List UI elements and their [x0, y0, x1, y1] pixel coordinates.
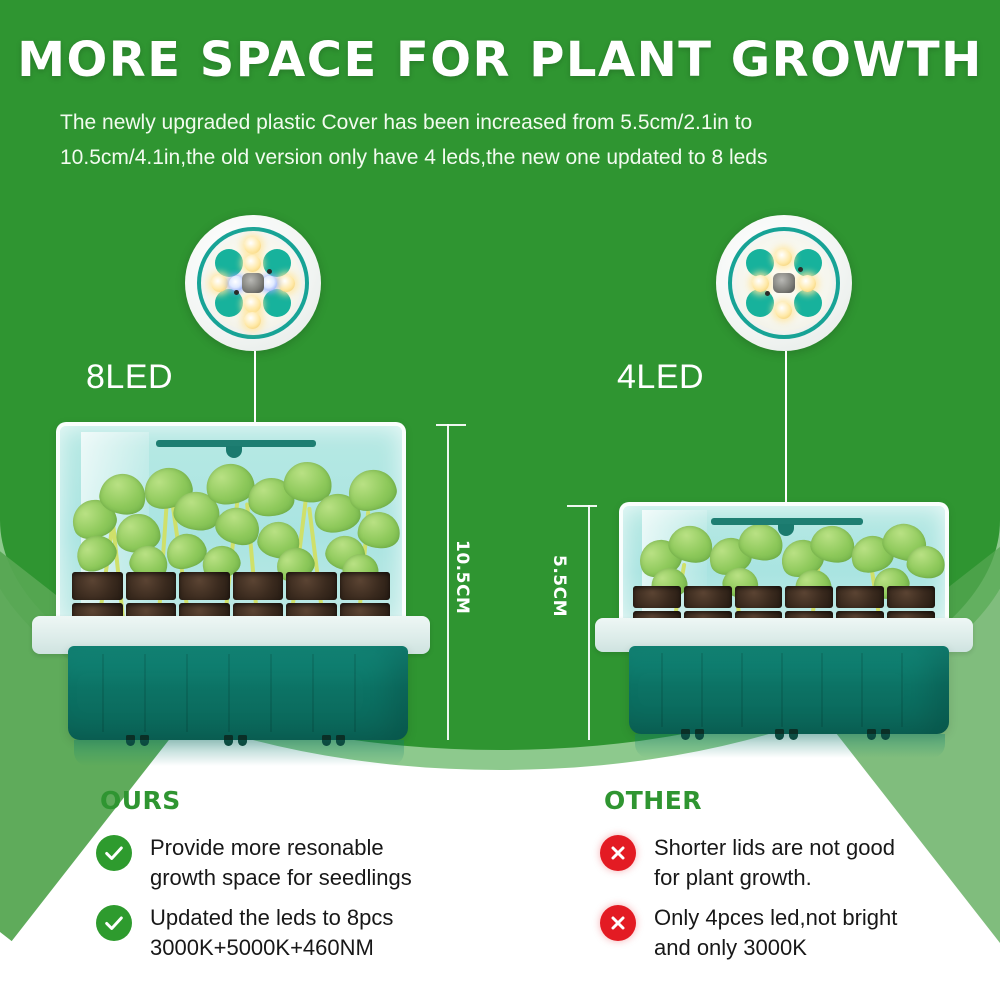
dim-line-ours	[447, 424, 449, 740]
soil-cell	[340, 572, 391, 600]
led-teal-dot-icon	[794, 249, 822, 277]
cross-icon	[600, 835, 636, 871]
soil-cell	[72, 572, 123, 600]
led-teal-dot-icon	[746, 249, 774, 277]
warm-led-icon	[244, 237, 261, 254]
base-rib	[901, 653, 903, 727]
base-rib	[270, 654, 272, 733]
base-rib	[312, 654, 314, 733]
subtitle-line-2: 10.5cm/4.1in,the old version only have 4…	[60, 140, 960, 175]
soil-cell	[233, 572, 284, 600]
led-module-4led	[716, 215, 852, 351]
led-solder-dot	[267, 269, 272, 274]
warm-led-icon	[752, 275, 769, 292]
subtitle-line-1: The newly upgraded plastic Cover has bee…	[60, 105, 960, 140]
dim-line-other	[588, 505, 590, 740]
dim-cap-top-other	[567, 505, 597, 507]
bullet-other-2: Only 4pces led,not bright and only 3000K	[600, 903, 1000, 963]
led-plate	[205, 235, 301, 331]
led-solder-dot	[765, 291, 770, 296]
bullet-text: Provide more resonable growth space for …	[150, 833, 412, 893]
base-rib	[661, 653, 663, 727]
tray-reflection	[635, 734, 945, 758]
soil-cell	[785, 586, 833, 608]
base-rib	[228, 654, 230, 733]
base-rib	[102, 654, 104, 733]
check-icon	[96, 905, 132, 941]
base-rib	[821, 653, 823, 727]
tray-reflection	[74, 740, 404, 766]
dim-label-ours: 10.5CM	[452, 540, 472, 614]
infographic-canvas: MORE SPACE FOR PLANT GROWTH The newly up…	[0, 0, 1000, 1000]
warm-led-icon	[799, 275, 816, 292]
led-plate	[736, 235, 832, 331]
bullet-ours-2: Updated the leds to 8pcs 3000K+5000K+460…	[96, 903, 516, 963]
check-icon	[96, 835, 132, 871]
blue-led-icon	[262, 276, 277, 291]
base-rib	[741, 653, 743, 727]
bullet-other-1: Shorter lids are not good for plant grow…	[600, 833, 1000, 893]
soil-cell	[126, 572, 177, 600]
warm-led-icon	[775, 249, 792, 266]
led-solder-dot	[798, 267, 803, 272]
column-heading-ours: OURS	[100, 786, 181, 815]
led-callout-4led	[716, 215, 852, 351]
base-rib	[186, 654, 188, 733]
product-tray-other	[595, 500, 975, 750]
tray-base	[68, 646, 408, 740]
soil-cell	[633, 586, 681, 608]
led-driver-chip-icon	[773, 273, 795, 293]
dim-cap-top-ours	[436, 424, 466, 426]
column-heading-other: OTHER	[604, 786, 702, 815]
base-rib	[354, 654, 356, 733]
led-label-4led: 4LED	[617, 358, 704, 397]
led-teal-dot-icon	[263, 289, 291, 317]
page-subtitle: The newly upgraded plastic Cover has bee…	[60, 105, 960, 175]
warm-led-icon	[278, 275, 295, 292]
dim-label-other: 5.5CM	[549, 555, 569, 617]
page-title: MORE SPACE FOR PLANT GROWTH	[0, 32, 1000, 88]
product-tray-ours	[30, 420, 430, 750]
cross-icon	[600, 905, 636, 941]
soil-cell	[836, 586, 884, 608]
bullet-text: Shorter lids are not good for plant grow…	[654, 833, 895, 893]
soil-cell	[735, 586, 783, 608]
led-callout-8led	[185, 215, 321, 351]
soil-cell	[684, 586, 732, 608]
warm-led-icon	[244, 312, 261, 329]
soil-cell	[286, 572, 337, 600]
warm-led-icon	[211, 275, 228, 292]
led-driver-chip-icon	[242, 273, 264, 293]
warm-led-icon	[775, 302, 792, 319]
led-solder-dot	[234, 290, 239, 295]
base-rib	[781, 653, 783, 727]
warm-led-icon	[244, 255, 261, 272]
led-module-8led	[185, 215, 321, 351]
callout-line-right	[785, 351, 787, 509]
warm-led-icon	[244, 296, 261, 313]
led-teal-dot-icon	[215, 249, 243, 277]
led-teal-dot-icon	[794, 289, 822, 317]
soil-cell	[887, 586, 935, 608]
base-rib	[861, 653, 863, 727]
tray-base	[629, 646, 949, 734]
bullet-text: Updated the leds to 8pcs 3000K+5000K+460…	[150, 903, 393, 963]
led-label-8led: 8LED	[86, 358, 173, 397]
soil-cell	[179, 572, 230, 600]
bullet-ours-1: Provide more resonable growth space for …	[96, 833, 516, 893]
base-rib	[701, 653, 703, 727]
base-rib	[144, 654, 146, 733]
bullet-text: Only 4pces led,not bright and only 3000K	[654, 903, 897, 963]
